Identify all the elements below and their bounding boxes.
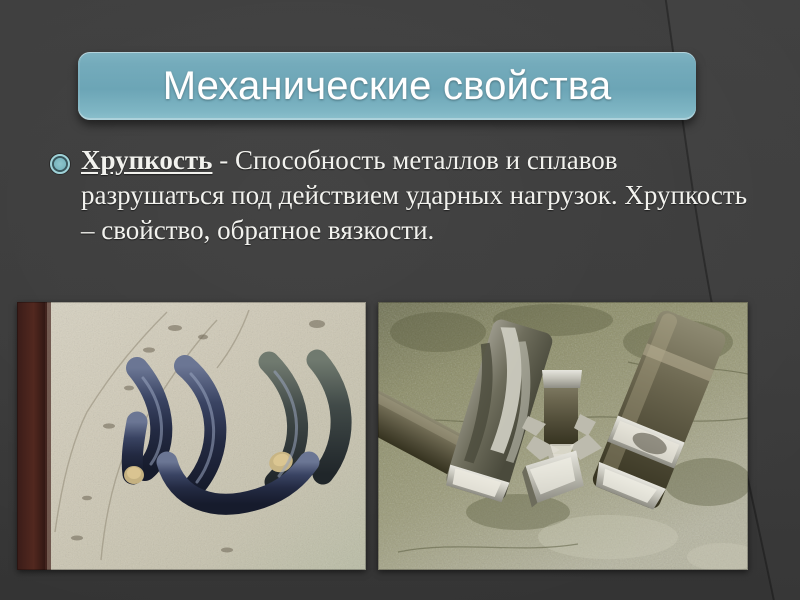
slide-body: Хрупкость - Способность металлов и сплав… bbox=[50, 143, 750, 248]
term-separator: - bbox=[212, 145, 235, 175]
page-title: Механические свойства bbox=[163, 64, 612, 109]
bullet-item: Хрупкость - Способность металлов и сплав… bbox=[50, 143, 750, 248]
bullet-item-text: Хрупкость - Способность металлов и сплав… bbox=[81, 143, 750, 248]
broken-coil-spring-photo bbox=[17, 302, 366, 570]
term-label: Хрупкость bbox=[81, 145, 212, 175]
circle-bullet-icon bbox=[50, 154, 70, 174]
slide-title-plate: Механические свойства bbox=[78, 52, 696, 120]
presentation-slide: Механические свойства Хрупкость - Способ… bbox=[0, 0, 800, 600]
broken-drill-bits-photo bbox=[378, 302, 748, 570]
